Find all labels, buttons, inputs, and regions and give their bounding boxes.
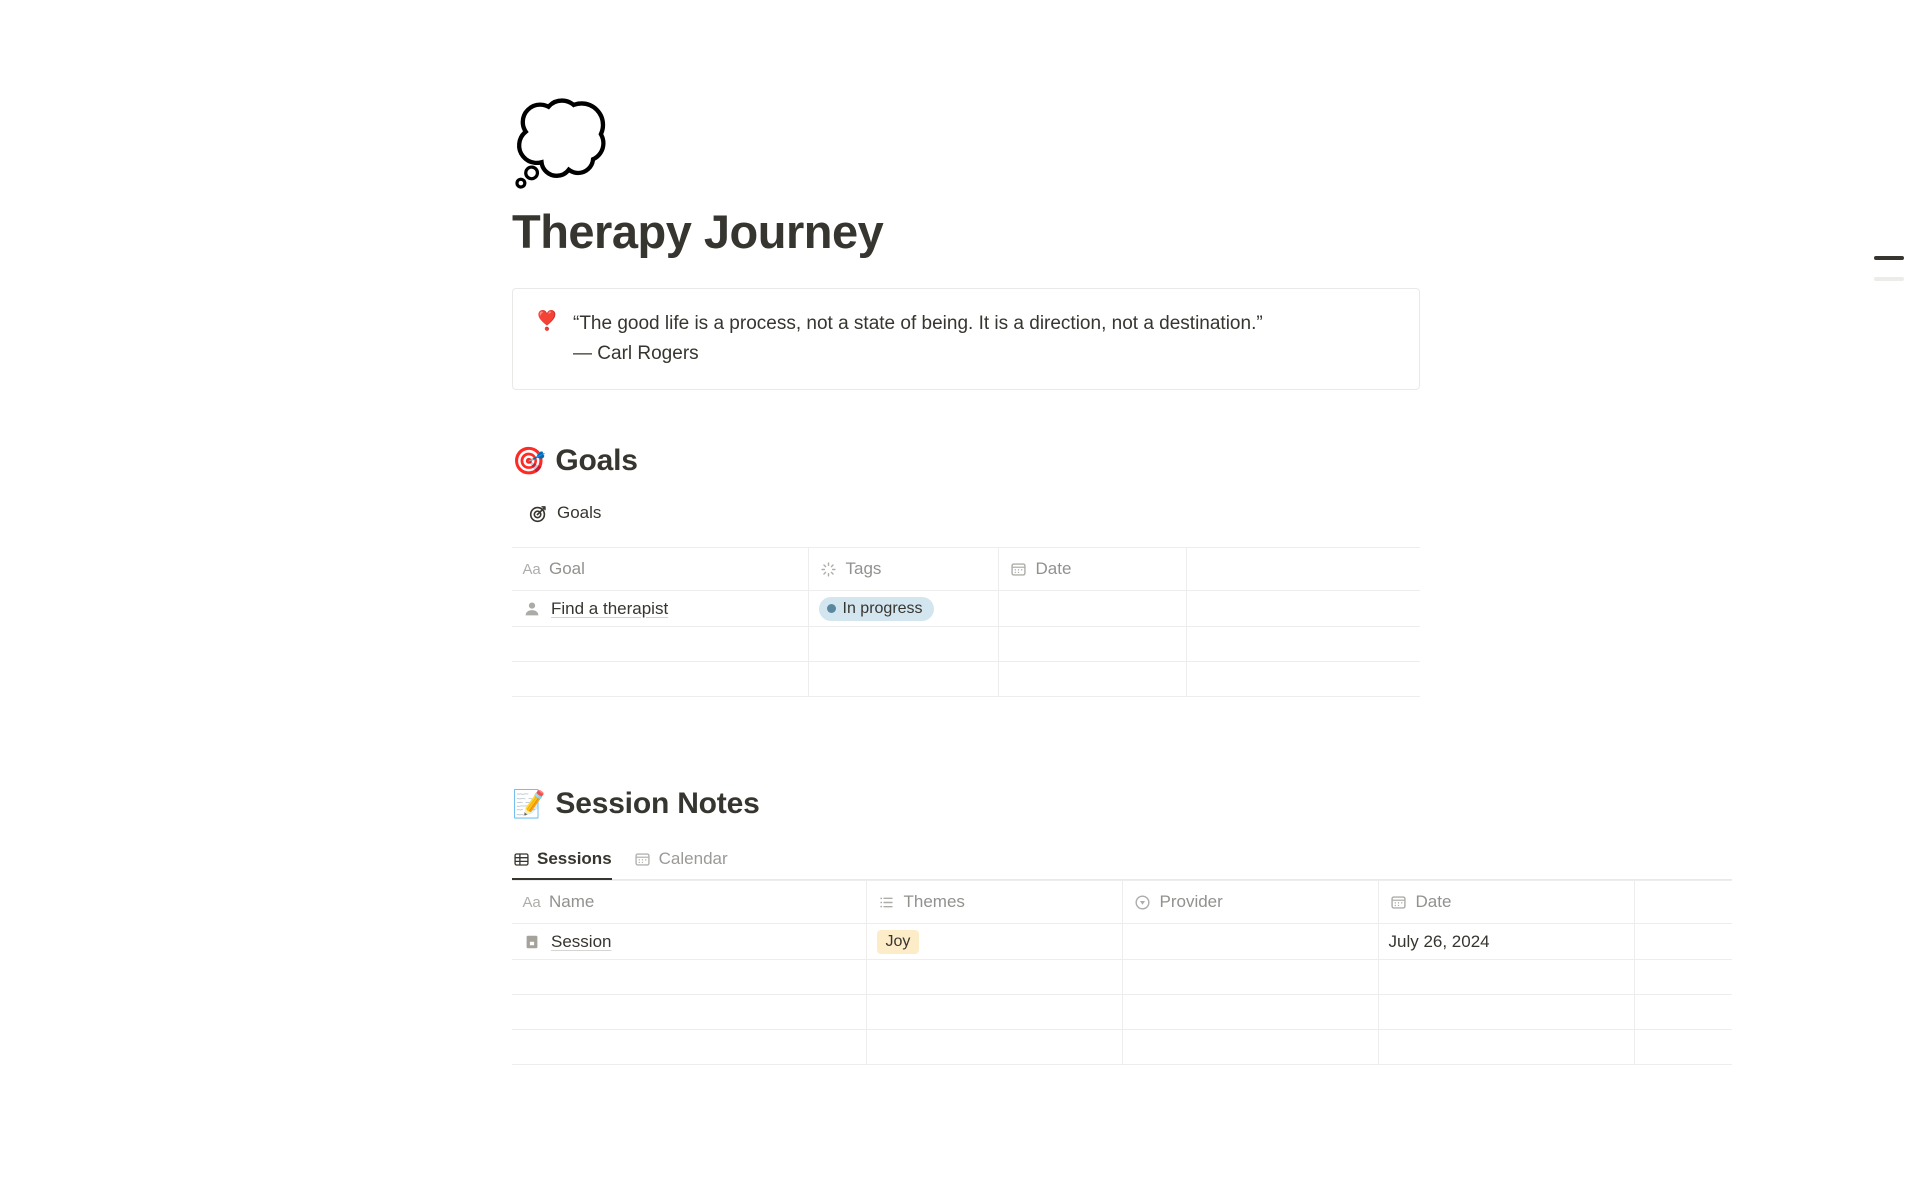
sessions-cell-themes[interactable]: [866, 995, 1122, 1030]
status-badge-label: In progress: [843, 597, 923, 621]
quote-text: “The good life is a process, not a state…: [573, 313, 1263, 334]
table-row[interactable]: Session Joy July 26, 2024: [512, 924, 1732, 960]
goals-database-title-label: Goals: [557, 503, 601, 523]
calendar-icon: [1009, 560, 1028, 579]
sessions-date-value: July 26, 2024: [1389, 932, 1490, 951]
sessions-column-label-provider: Provider: [1160, 892, 1223, 912]
goals-heading-label: Goals: [555, 444, 637, 478]
tab-sessions-label: Sessions: [537, 849, 612, 869]
tab-sessions[interactable]: Sessions: [512, 846, 612, 879]
table-row[interactable]: [512, 627, 1420, 662]
calendar-view-icon: [634, 850, 652, 868]
goals-column-label-date: Date: [1036, 559, 1072, 579]
session-notes-heading-label: Session Notes: [555, 787, 759, 821]
toc-bar-active[interactable]: [1874, 256, 1904, 260]
direct-hit-emoji: 🎯: [512, 448, 545, 475]
calendar-icon: [1389, 893, 1408, 912]
goals-cell-date[interactable]: [998, 591, 1186, 627]
quote-callout-block[interactable]: ❣️ “The good life is a process, not a st…: [512, 288, 1420, 390]
sessions-view-tabs: Sessions Calendar: [512, 846, 1732, 880]
status-dot: [827, 604, 836, 613]
sessions-cell-themes[interactable]: [866, 960, 1122, 995]
sessions-column-label-name: Name: [549, 892, 594, 912]
goals-cell-name[interactable]: [512, 627, 808, 662]
sessions-cell-themes[interactable]: [866, 1030, 1122, 1065]
sessions-cell-name[interactable]: [512, 960, 866, 995]
sessions-cell-extra[interactable]: [1634, 995, 1732, 1030]
tab-calendar-label: Calendar: [659, 849, 728, 869]
table-row[interactable]: [512, 995, 1732, 1030]
sessions-table: Aa Name: [512, 880, 1732, 1065]
multi-select-icon: [819, 560, 838, 579]
session-calendar-icon: [522, 932, 542, 952]
goals-section-heading[interactable]: 🎯 Goals: [512, 444, 1420, 478]
sessions-cell-provider[interactable]: [1122, 995, 1378, 1030]
page-title[interactable]: Therapy Journey: [512, 204, 1420, 259]
page-content-column: 💭 Therapy Journey ❣️ “The good life is a…: [512, 0, 1420, 1065]
sessions-table-header-row: Aa Name: [512, 881, 1732, 924]
sessions-cell-extra[interactable]: [1634, 924, 1732, 960]
goals-cell-extra[interactable]: [1186, 591, 1420, 627]
table-view-icon: [512, 850, 530, 868]
sessions-column-label-themes: Themes: [904, 892, 965, 912]
goals-column-label-tags: Tags: [846, 559, 882, 579]
goals-column-header-date[interactable]: Date: [998, 548, 1186, 591]
sessions-cell-date[interactable]: [1378, 995, 1634, 1030]
text-aa-icon: Aa: [522, 560, 541, 579]
target-icon: [529, 504, 548, 523]
memo-emoji: 📝: [512, 791, 545, 818]
status-badge[interactable]: In progress: [819, 597, 934, 621]
sessions-cell-provider[interactable]: [1122, 1030, 1378, 1065]
sessions-column-header-name[interactable]: Aa Name: [512, 881, 866, 924]
notion-page: 💭 Therapy Journey ❣️ “The good life is a…: [0, 0, 1920, 1199]
sessions-column-header-date[interactable]: Date: [1378, 881, 1634, 924]
tab-calendar[interactable]: Calendar: [634, 846, 728, 879]
goals-column-header-tags[interactable]: Tags: [808, 548, 998, 591]
goals-cell-name[interactable]: Find a therapist: [512, 591, 808, 627]
goals-cell-tags[interactable]: [808, 627, 998, 662]
goals-table-header-row: Aa Goal Tags: [512, 548, 1420, 591]
sessions-cell-date[interactable]: [1378, 960, 1634, 995]
goals-column-header-goal[interactable]: Aa Goal: [512, 548, 808, 591]
sessions-cell-provider[interactable]: [1122, 924, 1378, 960]
sessions-column-header-themes[interactable]: Themes: [866, 881, 1122, 924]
sessions-cell-themes[interactable]: Joy: [866, 924, 1122, 960]
sessions-row-link[interactable]: Session: [551, 932, 611, 952]
table-row[interactable]: [512, 1030, 1732, 1065]
table-row[interactable]: [512, 662, 1420, 697]
table-of-contents-indicator[interactable]: [1874, 256, 1908, 298]
table-row[interactable]: Find a therapist In progress: [512, 591, 1420, 627]
quote-attribution: — Carl Rogers: [573, 339, 1263, 369]
goals-column-header-empty[interactable]: [1186, 548, 1420, 591]
goals-cell-date[interactable]: [998, 662, 1186, 697]
sessions-column-header-empty[interactable]: [1634, 881, 1732, 924]
goals-cell-name[interactable]: [512, 662, 808, 697]
select-icon: [1133, 893, 1152, 912]
table-row[interactable]: [512, 960, 1732, 995]
text-aa-icon: Aa: [522, 893, 541, 912]
sessions-cell-extra[interactable]: [1634, 960, 1732, 995]
list-icon: [877, 893, 896, 912]
person-bust-icon: [522, 599, 542, 619]
sessions-column-label-date: Date: [1416, 892, 1452, 912]
sessions-database: Sessions Calendar: [512, 846, 1732, 1065]
theme-badge-label: Joy: [886, 930, 911, 954]
goals-cell-extra[interactable]: [1186, 627, 1420, 662]
thought-balloon-emoji[interactable]: 💭: [512, 104, 1420, 200]
goals-database-title[interactable]: Goals: [529, 503, 1420, 523]
heart-exclamation-emoji: ❣️: [535, 309, 561, 335]
callout-text: “The good life is a process, not a state…: [573, 309, 1263, 369]
sessions-cell-name[interactable]: [512, 995, 866, 1030]
goals-row-link[interactable]: Find a therapist: [551, 599, 668, 619]
goals-table: Aa Goal Tags: [512, 547, 1420, 697]
goals-cell-tags[interactable]: [808, 662, 998, 697]
toc-bar-inactive[interactable]: [1874, 277, 1904, 281]
sessions-cell-date[interactable]: [1378, 1030, 1634, 1065]
sessions-cell-name[interactable]: [512, 1030, 866, 1065]
goals-cell-date[interactable]: [998, 627, 1186, 662]
sessions-cell-date[interactable]: July 26, 2024: [1378, 924, 1634, 960]
goals-cell-tags[interactable]: In progress: [808, 591, 998, 627]
theme-badge[interactable]: Joy: [877, 930, 920, 954]
goals-cell-extra[interactable]: [1186, 662, 1420, 697]
sessions-cell-provider[interactable]: [1122, 960, 1378, 995]
goals-column-label-goal: Goal: [549, 559, 585, 579]
session-notes-section-heading[interactable]: 📝 Session Notes: [512, 787, 1420, 821]
sessions-cell-extra[interactable]: [1634, 1030, 1732, 1065]
sessions-cell-name[interactable]: Session: [512, 924, 866, 960]
sessions-column-header-provider[interactable]: Provider: [1122, 881, 1378, 924]
